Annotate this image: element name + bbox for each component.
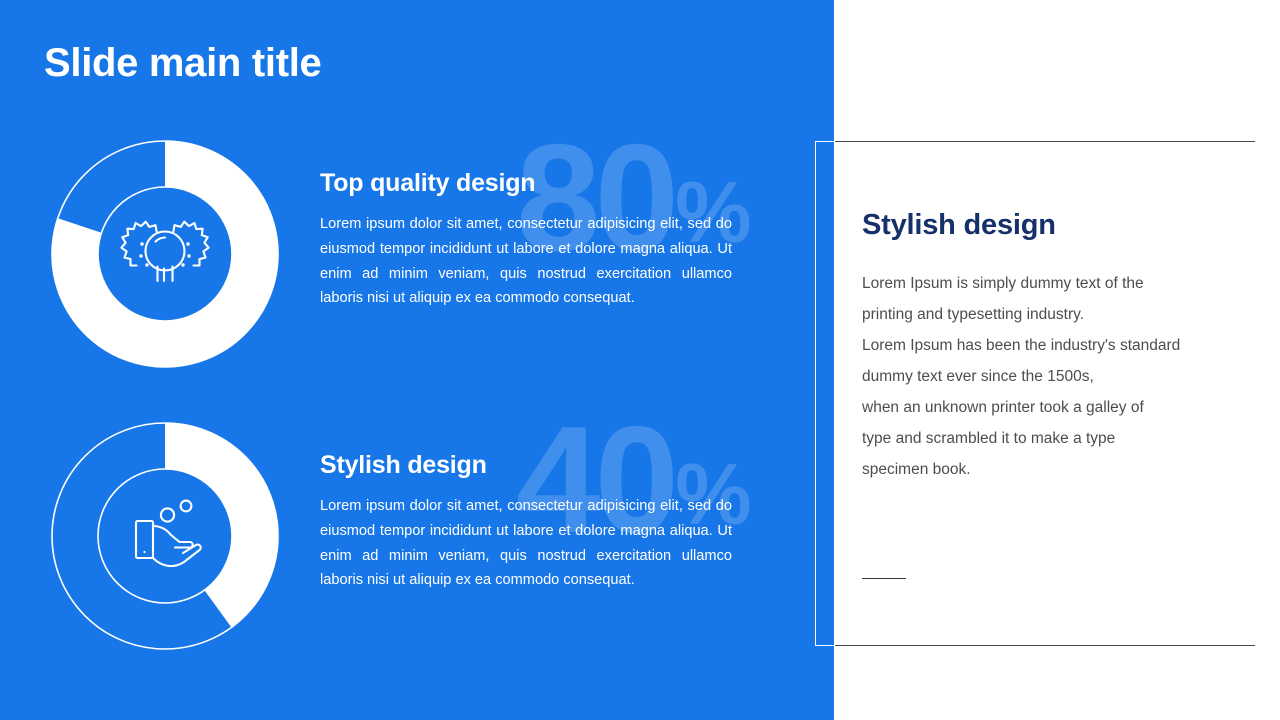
card-heading: Stylish design: [862, 208, 1232, 242]
donut-chart-40-svg: [51, 422, 279, 650]
card-body-line: Lorem Ipsum is simply dummy text of the: [862, 268, 1232, 299]
donut-hole: [98, 187, 232, 321]
card-body-line: Lorem Ipsum has been the industry's stan…: [862, 330, 1232, 361]
slide-canvas: Slide main title 80 % 40 %: [0, 0, 1280, 720]
feature-text-block: Stylish design Lorem ipsum dolor sit ame…: [320, 450, 732, 593]
card-divider-rule: [862, 578, 906, 579]
card-body-line: dummy text ever since the 1500s,: [862, 361, 1232, 392]
card-body-line: specimen book.: [862, 454, 1232, 485]
right-info-card-content: Stylish design Lorem Ipsum is simply dum…: [862, 208, 1232, 485]
donut-chart-80[interactable]: [51, 140, 279, 368]
card-body-line: printing and typesetting industry.: [862, 299, 1232, 330]
feature-block-stylish-design: Stylish design Lorem ipsum dolor sit ame…: [0, 422, 834, 652]
donut-chart-80-svg: [51, 140, 279, 368]
feature-block-top-quality-design: Top quality design Lorem ipsum dolor sit…: [0, 140, 834, 370]
feature-text-block: Top quality design Lorem ipsum dolor sit…: [320, 168, 732, 311]
page-title: Slide main title: [44, 38, 322, 88]
donut-hole: [98, 469, 232, 603]
feature-heading: Stylish design: [320, 450, 732, 480]
feature-body-text: Lorem ipsum dolor sit amet, consectetur …: [320, 494, 732, 593]
card-body-line: when an unknown printer took a galley of: [862, 392, 1232, 423]
feature-heading: Top quality design: [320, 168, 732, 198]
feature-body-text: Lorem ipsum dolor sit amet, consectetur …: [320, 212, 732, 311]
donut-chart-40[interactable]: [51, 422, 279, 650]
card-body-line: type and scrambled it to make a type: [862, 423, 1232, 454]
right-info-card-blue-edge: [815, 141, 835, 646]
